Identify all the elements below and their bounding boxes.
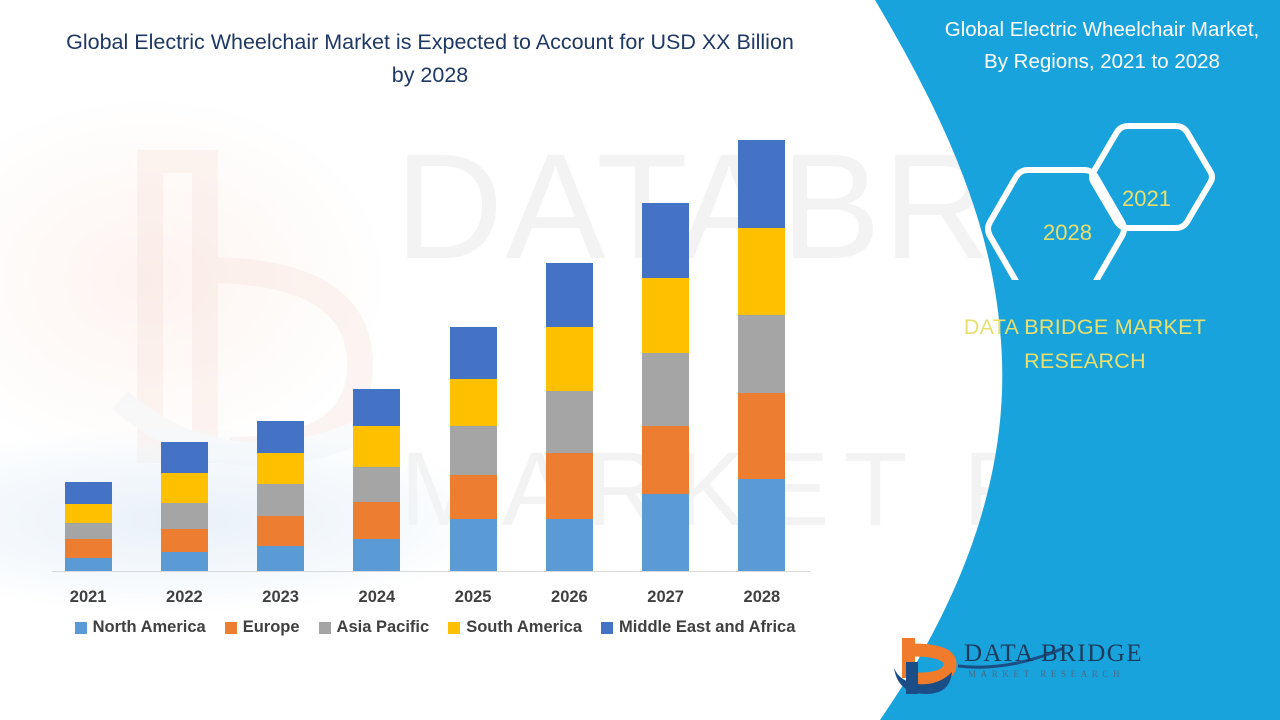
bar-group xyxy=(40,140,810,572)
bar-segment[interactable] xyxy=(353,539,400,572)
legend-item-north-america[interactable]: North America xyxy=(75,618,206,637)
bar-segment[interactable] xyxy=(642,278,689,353)
bar-segment[interactable] xyxy=(353,467,400,502)
x-axis-label-2023: 2023 xyxy=(246,588,316,607)
bar-segment[interactable] xyxy=(353,502,400,539)
legend-label: North America xyxy=(93,618,206,637)
bar-segment[interactable] xyxy=(161,442,208,472)
bar-segment[interactable] xyxy=(65,504,112,523)
bar-2028[interactable] xyxy=(738,140,785,572)
bar-segment[interactable] xyxy=(353,426,400,467)
bar-segment[interactable] xyxy=(161,552,208,572)
panel-brand-name: DATA BRIDGE MARKET RESEARCH xyxy=(900,310,1270,378)
bar-segment[interactable] xyxy=(450,475,497,519)
bar-segment[interactable] xyxy=(738,479,785,572)
bar-segment[interactable] xyxy=(257,546,304,572)
bar-2021[interactable] xyxy=(65,482,112,572)
bar-segment[interactable] xyxy=(257,484,304,516)
legend-swatch-icon xyxy=(75,622,87,634)
bar-segment[interactable] xyxy=(642,426,689,494)
chart-title: Global Electric Wheelchair Market is Exp… xyxy=(60,26,800,92)
legend-item-asia-pacific[interactable]: Asia Pacific xyxy=(319,618,430,637)
x-axis-label-2025: 2025 xyxy=(438,588,508,607)
bar-segment[interactable] xyxy=(642,353,689,427)
legend-item-south-america[interactable]: South America xyxy=(448,618,582,637)
bar-segment[interactable] xyxy=(738,315,785,393)
bar-segment[interactable] xyxy=(65,482,112,504)
bar-segment[interactable] xyxy=(546,519,593,572)
legend-swatch-icon xyxy=(448,622,460,634)
bar-2024[interactable] xyxy=(353,389,400,572)
bar-segment[interactable] xyxy=(257,421,304,453)
x-axis-label-2024: 2024 xyxy=(342,588,412,607)
bar-segment[interactable] xyxy=(450,327,497,380)
bar-2027[interactable] xyxy=(642,203,689,572)
bar-segment[interactable] xyxy=(738,228,785,316)
chart-plot-area xyxy=(40,140,810,572)
bar-segment[interactable] xyxy=(257,453,304,485)
bar-segment[interactable] xyxy=(161,473,208,503)
bar-2023[interactable] xyxy=(257,421,304,572)
hexagon-shapes xyxy=(880,120,1280,280)
bar-segment[interactable] xyxy=(546,391,593,453)
x-axis-label-2028: 2028 xyxy=(727,588,797,607)
legend-swatch-icon xyxy=(319,622,331,634)
x-axis-label-2021: 2021 xyxy=(53,588,123,607)
bar-2026[interactable] xyxy=(546,263,593,572)
chart-legend: North AmericaEuropeAsia PacificSouth Ame… xyxy=(40,618,830,637)
bar-segment[interactable] xyxy=(65,558,112,572)
bar-segment[interactable] xyxy=(450,426,497,475)
bar-2025[interactable] xyxy=(450,327,497,572)
bar-segment[interactable] xyxy=(738,393,785,478)
bar-segment[interactable] xyxy=(353,389,400,426)
x-axis-label-2026: 2026 xyxy=(534,588,604,607)
legend-item-europe[interactable]: Europe xyxy=(225,618,300,637)
legend-label: South America xyxy=(466,618,582,637)
legend-label: Middle East and Africa xyxy=(619,618,795,637)
bar-segment[interactable] xyxy=(65,523,112,539)
x-axis-labels: 20212022202320242025202620272028 xyxy=(40,588,810,607)
brand-panel: Global Electric Wheelchair Market, By Re… xyxy=(840,0,1280,720)
footer-logo-tagline: MARKET RESEARCH xyxy=(968,669,1124,679)
legend-label: Asia Pacific xyxy=(337,618,430,637)
bar-segment[interactable] xyxy=(450,379,497,426)
bar-segment[interactable] xyxy=(546,263,593,327)
bar-segment[interactable] xyxy=(161,503,208,529)
footer-logo: DATA BRIDGE MARKET RESEARCH xyxy=(888,632,1103,704)
infographic-canvas: DATABRIDGE MARKET RESEARCH Global Electr… xyxy=(0,0,1280,720)
x-axis-line xyxy=(52,571,810,572)
bar-segment[interactable] xyxy=(546,327,593,391)
bar-2022[interactable] xyxy=(161,442,208,572)
bar-segment[interactable] xyxy=(546,453,593,520)
footer-logo-name: DATA BRIDGE xyxy=(964,640,1143,668)
hexagon-label-2021: 2021 xyxy=(1122,186,1171,212)
bar-segment[interactable] xyxy=(450,519,497,572)
bar-segment[interactable] xyxy=(738,140,785,228)
bar-segment[interactable] xyxy=(642,494,689,572)
hexagon-group: 2021 2028 xyxy=(880,120,1280,280)
panel-heading: Global Electric Wheelchair Market, By Re… xyxy=(932,14,1272,78)
legend-swatch-icon xyxy=(601,622,613,634)
x-axis-label-2022: 2022 xyxy=(149,588,219,607)
hexagon-label-2028: 2028 xyxy=(1043,220,1092,246)
legend-label: Europe xyxy=(243,618,300,637)
bar-segment[interactable] xyxy=(65,539,112,558)
legend-item-middle-east-and-africa[interactable]: Middle East and Africa xyxy=(601,618,795,637)
bar-segment[interactable] xyxy=(161,529,208,552)
bar-segment[interactable] xyxy=(642,203,689,278)
x-axis-label-2027: 2027 xyxy=(631,588,701,607)
legend-swatch-icon xyxy=(225,622,237,634)
bar-segment[interactable] xyxy=(257,516,304,546)
